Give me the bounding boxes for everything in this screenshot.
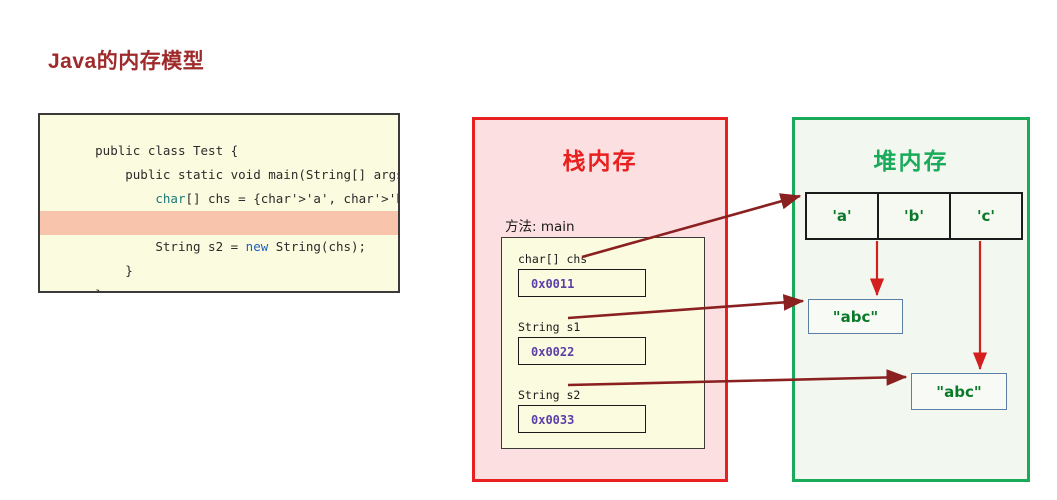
- heap-memory-title: 堆内存: [795, 142, 1027, 176]
- stack-method-label: 方法: main: [505, 215, 575, 235]
- heap-string-object-2: "abc": [911, 373, 1007, 410]
- variable-address: 0x0033: [518, 405, 646, 433]
- heap-char-array: 'a' 'b' 'c': [805, 192, 1023, 240]
- code-line-4: String s1 = new String(chs);: [40, 187, 398, 211]
- code-line-2: public static void main(String[] args) {: [40, 139, 398, 163]
- stack-memory-panel: 栈内存 方法: main char[] chs 0x0011 String s1…: [472, 117, 728, 482]
- char-array-cell-0: 'a': [807, 194, 879, 238]
- variable-address: 0x0022: [518, 337, 646, 365]
- variable-address: 0x0011: [518, 269, 646, 297]
- code-line-6: }: [40, 235, 398, 259]
- stack-frame-box: char[] chs 0x0011 String s1 0x0022 Strin…: [501, 237, 705, 449]
- char-array-cell-1: 'b': [879, 194, 951, 238]
- stack-variable-s1: String s1 0x0022: [518, 320, 690, 365]
- page-title: Java的内存模型: [48, 45, 204, 75]
- heap-string-object-1: "abc": [808, 299, 903, 334]
- code-line-3: char[] chs = {char'>'a', char'>'b', char…: [40, 163, 398, 187]
- stack-variable-chs: char[] chs 0x0011: [518, 252, 690, 297]
- stack-variable-s2: String s2 0x0033: [518, 388, 690, 433]
- variable-name: String s1: [518, 320, 690, 334]
- variable-name: String s2: [518, 388, 690, 402]
- code-line-5-highlighted: String s2 = new String(chs);: [40, 211, 398, 235]
- variable-name: char[] chs: [518, 252, 690, 266]
- char-array-cell-2: 'c': [951, 194, 1021, 238]
- code-line-1: public class Test {: [40, 115, 398, 139]
- code-block: public class Test { public static void m…: [38, 113, 400, 293]
- code-line-7: }: [40, 259, 398, 283]
- code-text: }: [95, 287, 103, 293]
- stack-memory-title: 栈内存: [475, 142, 725, 176]
- diagram-canvas: Java的内存模型 public class Test { public sta…: [0, 0, 1057, 500]
